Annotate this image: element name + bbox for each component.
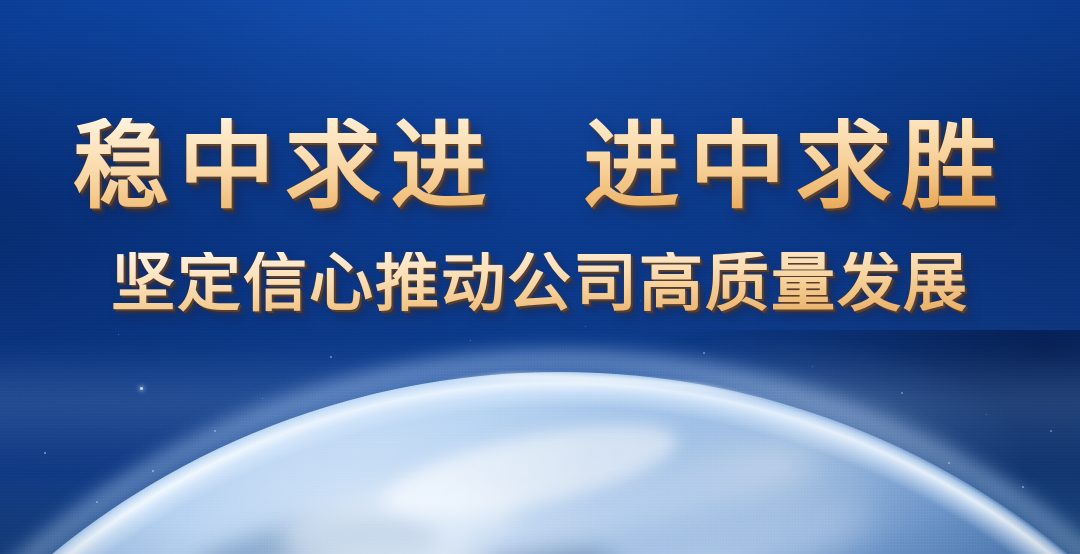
slogan-block: 稳中求进 进中求胜 坚定信心推动公司高质量发展 [0, 118, 1080, 316]
star-dot [470, 340, 471, 341]
star-dot [118, 334, 119, 335]
earth-globe [0, 372, 1080, 554]
star-dot [585, 326, 586, 327]
poster-root: 稳中求进 进中求胜 坚定信心推动公司高质量发展 [0, 0, 1080, 554]
poster-headline: 稳中求进 进中求胜 [0, 118, 1080, 214]
earth-upper-haze [0, 346, 1080, 466]
poster-subheadline: 坚定信心推动公司高质量发展 [0, 252, 1080, 316]
